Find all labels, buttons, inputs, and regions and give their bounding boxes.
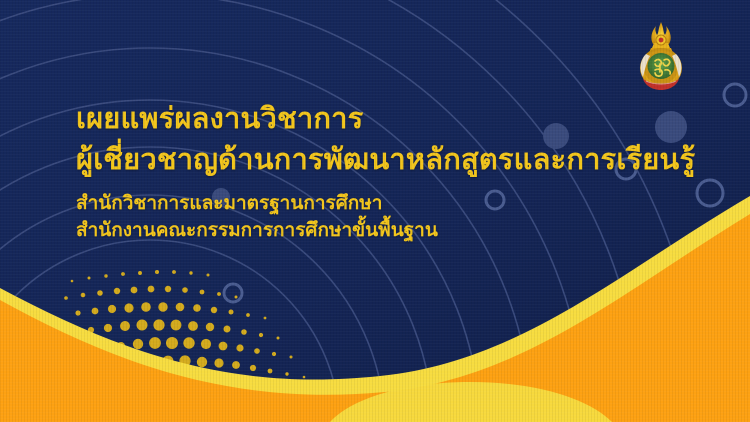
subtitle-line-1: สำนักวิชาการและมาตรฐานการศึกษา [76,190,695,217]
banner-text-block: เผยแพร่ผลงานวิชาการ ผู้เชี่ยวชาญด้านการพ… [76,100,695,244]
subtitle-line-2: สำนักงานคณะกรรมการการศึกษาขั้นพื้นฐาน [76,217,695,244]
banner-canvas: เผยแพร่ผลงานวิชาการ ผู้เชี่ยวชาญด้านการพ… [0,0,750,422]
page-title-line-2: ผู้เชี่ยวชาญด้านการพัฒนาหลักสูตรและการเร… [76,141,695,178]
obec-garuda-emblem [634,20,688,92]
page-title-line-1: เผยแพร่ผลงานวิชาการ [76,100,695,137]
